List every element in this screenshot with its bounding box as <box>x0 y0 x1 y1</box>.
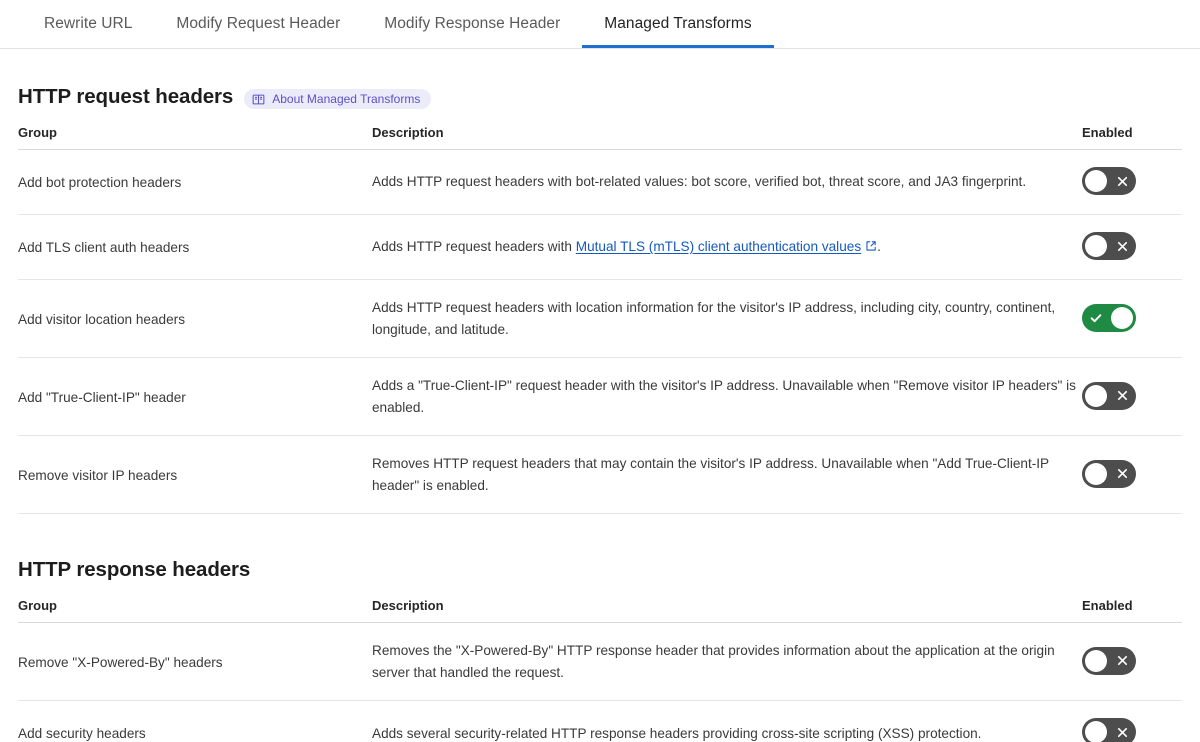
about-managed-transforms-badge[interactable]: About Managed Transforms <box>244 89 431 109</box>
tab-label: Rewrite URL <box>44 15 132 33</box>
column-header-description: Description <box>372 598 1082 623</box>
toggle-knob <box>1085 385 1107 407</box>
row-enabled-cell <box>1082 358 1182 436</box>
toggle-add-tls-client-auth-headers[interactable] <box>1082 232 1136 260</box>
toggle-knob <box>1085 721 1107 742</box>
book-icon <box>252 93 265 106</box>
toggle-knob <box>1085 170 1107 192</box>
row-group-name: Add visitor location headers <box>18 280 372 358</box>
response-headers-table: Group Description Enabled Remove "X-Powe… <box>18 598 1182 742</box>
toggle-remove-x-powered-by-headers[interactable] <box>1082 647 1136 675</box>
mutual-tls-doc-link[interactable]: Mutual TLS (mTLS) client authentication … <box>576 239 861 254</box>
external-link-icon[interactable] <box>865 237 877 259</box>
toggle-add-bot-protection-headers[interactable] <box>1082 167 1136 195</box>
toggle-add-visitor-location-headers[interactable] <box>1082 304 1136 332</box>
description-text-before: Adds HTTP request headers with <box>372 239 576 254</box>
row-group-name: Remove visitor IP headers <box>18 436 372 514</box>
http-response-headers-section: HTTP response headers Group Description … <box>0 558 1200 742</box>
request-headers-table: Group Description Enabled Add bot protec… <box>18 125 1182 514</box>
tab-bar-divider <box>0 48 1200 49</box>
tab-label: Modify Response Header <box>384 15 560 33</box>
table-row: Remove visitor IP headers Removes HTTP r… <box>18 436 1182 514</box>
close-icon <box>1109 647 1135 675</box>
column-header-enabled: Enabled <box>1082 125 1182 150</box>
tab-label: Managed Transforms <box>604 15 751 33</box>
row-enabled-cell <box>1082 280 1182 358</box>
row-description: Adds a "True-Client-IP" request header w… <box>372 358 1082 436</box>
table-header-row: Group Description Enabled <box>18 125 1182 150</box>
toggle-knob <box>1085 650 1107 672</box>
column-header-description: Description <box>372 125 1082 150</box>
row-description: Adds HTTP request headers with bot-relat… <box>372 150 1082 215</box>
column-header-group: Group <box>18 598 372 623</box>
check-icon <box>1083 304 1109 332</box>
table-row: Add visitor location headers Adds HTTP r… <box>18 280 1182 358</box>
description-text-after: . <box>877 239 881 254</box>
row-group-name: Add bot protection headers <box>18 150 372 215</box>
about-badge-label: About Managed Transforms <box>272 92 420 106</box>
page-title-response: HTTP response headers <box>18 558 250 582</box>
row-description: Adds HTTP request headers with location … <box>372 280 1082 358</box>
row-enabled-cell <box>1082 701 1182 742</box>
toggle-remove-visitor-ip-headers[interactable] <box>1082 460 1136 488</box>
close-icon <box>1109 232 1135 260</box>
row-enabled-cell <box>1082 436 1182 514</box>
toggle-add-security-headers[interactable] <box>1082 718 1136 742</box>
toggle-add-true-client-ip-header[interactable] <box>1082 382 1136 410</box>
tab-rewrite-url[interactable]: Rewrite URL <box>22 0 154 48</box>
close-icon <box>1109 718 1135 742</box>
request-section-header: HTTP request headers About Managed Trans… <box>18 85 1182 109</box>
table-header-row: Group Description Enabled <box>18 598 1182 623</box>
tab-modify-response-header[interactable]: Modify Response Header <box>362 0 582 48</box>
table-row: Add TLS client auth headers Adds HTTP re… <box>18 215 1182 280</box>
page-title-request: HTTP request headers <box>18 85 233 109</box>
response-section-header: HTTP response headers <box>18 558 1182 582</box>
table-row: Add "True-Client-IP" header Adds a "True… <box>18 358 1182 436</box>
row-enabled-cell <box>1082 623 1182 701</box>
row-enabled-cell <box>1082 215 1182 280</box>
tab-modify-request-header[interactable]: Modify Request Header <box>154 0 362 48</box>
row-description: Removes the "X-Powered-By" HTTP response… <box>372 623 1082 701</box>
toggle-knob <box>1085 235 1107 257</box>
http-request-headers-section: HTTP request headers About Managed Trans… <box>0 85 1200 514</box>
row-group-name: Add "True-Client-IP" header <box>18 358 372 436</box>
row-group-name: Add TLS client auth headers <box>18 215 372 280</box>
row-enabled-cell <box>1082 150 1182 215</box>
tab-managed-transforms[interactable]: Managed Transforms <box>582 0 773 48</box>
tab-list: Rewrite URL Modify Request Header Modify… <box>0 0 1200 48</box>
close-icon <box>1109 382 1135 410</box>
close-icon <box>1109 167 1135 195</box>
tab-bar: Rewrite URL Modify Request Header Modify… <box>0 0 1200 49</box>
row-group-name: Remove "X-Powered-By" headers <box>18 623 372 701</box>
row-description: Adds several security-related HTTP respo… <box>372 701 1082 742</box>
table-row: Add bot protection headers Adds HTTP req… <box>18 150 1182 215</box>
row-group-name: Add security headers <box>18 701 372 742</box>
row-description: Removes HTTP request headers that may co… <box>372 436 1082 514</box>
column-header-group: Group <box>18 125 372 150</box>
row-description: Adds HTTP request headers with Mutual TL… <box>372 215 1082 280</box>
toggle-knob <box>1111 307 1133 329</box>
tab-label: Modify Request Header <box>176 15 340 33</box>
table-row: Remove "X-Powered-By" headers Removes th… <box>18 623 1182 701</box>
toggle-knob <box>1085 463 1107 485</box>
table-row: Add security headers Adds several securi… <box>18 701 1182 742</box>
close-icon <box>1109 460 1135 488</box>
column-header-enabled: Enabled <box>1082 598 1182 623</box>
